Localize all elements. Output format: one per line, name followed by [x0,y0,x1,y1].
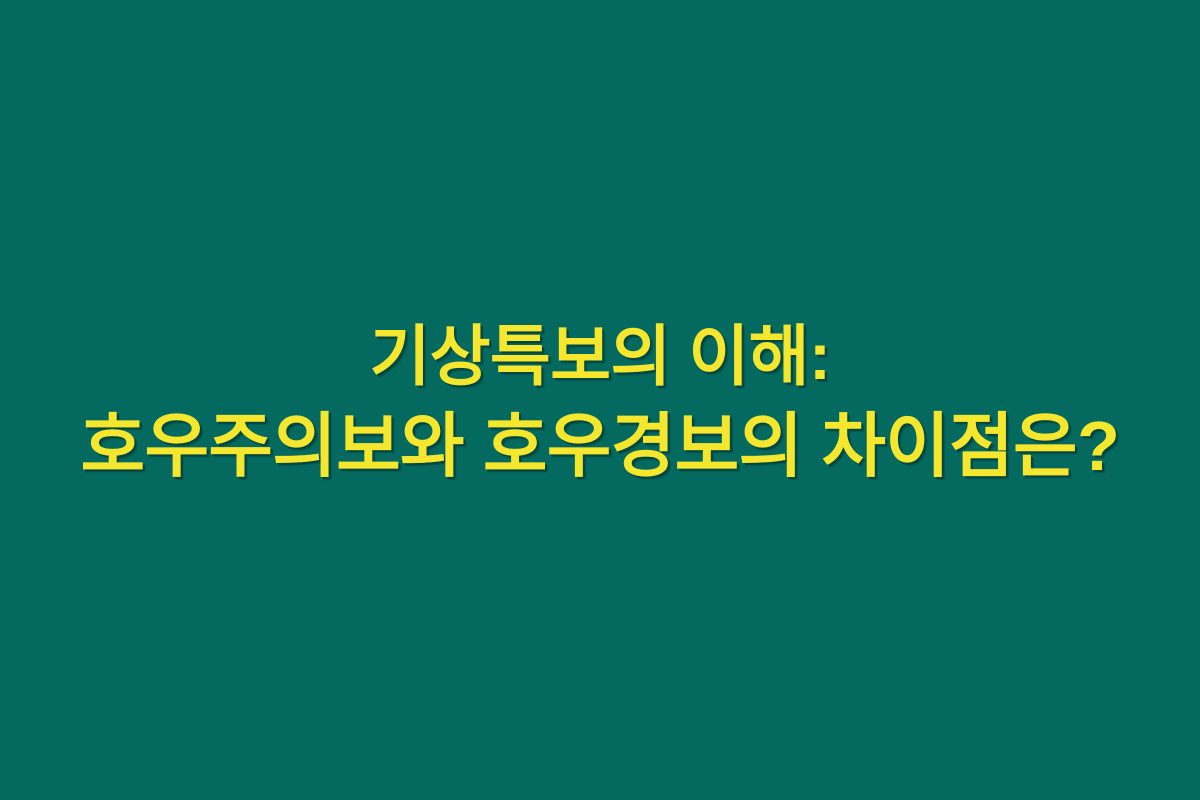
headline-line-2: 호우주의보와 호우경보의 차이점은? [0,400,1200,493]
title-card: 기상특보의 이해: 호우주의보와 호우경보의 차이점은? [0,0,1200,800]
headline-block: 기상특보의 이해: 호우주의보와 호우경보의 차이점은? [0,313,1200,494]
headline-line-1: 기상특보의 이해: [0,313,1200,401]
